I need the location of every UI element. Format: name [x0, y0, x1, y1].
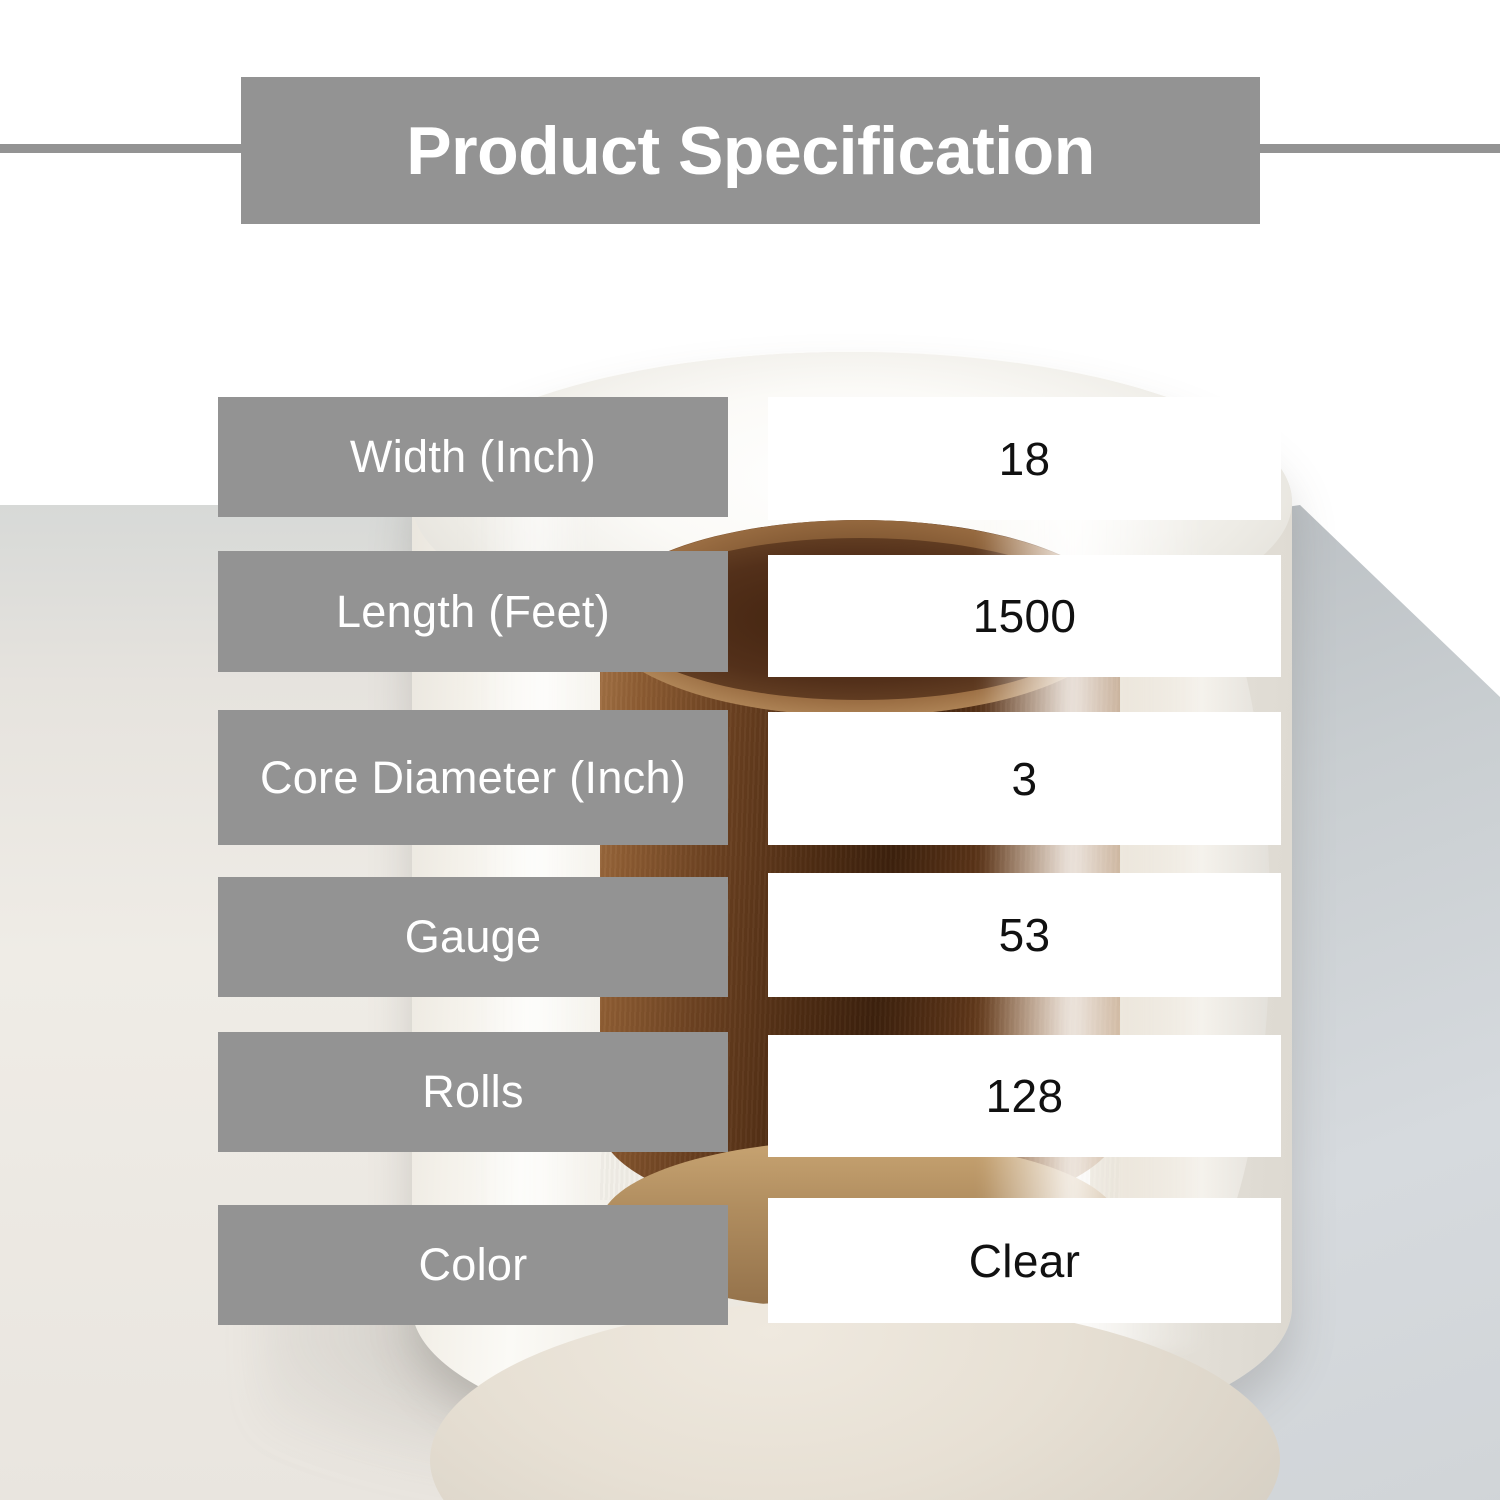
spec-label-text: Length (Feet) — [336, 588, 610, 635]
spec-label-cell: Rolls — [218, 1032, 728, 1152]
spec-value-cell: 128 — [768, 1035, 1281, 1157]
spec-label-cell: Gauge — [218, 877, 728, 997]
spec-value-text: 18 — [999, 432, 1051, 486]
spec-label-text: Width (Inch) — [350, 433, 596, 480]
spec-label-text: Gauge — [405, 913, 542, 960]
spec-label-cell: Core Diameter (Inch) — [218, 710, 728, 845]
specification-table: Width (Inch) 18 Length (Feet) 1500 Core … — [0, 0, 1500, 1500]
spec-value-text: Clear — [969, 1234, 1080, 1288]
spec-value-text: 53 — [999, 908, 1051, 962]
spec-value-text: 1500 — [973, 589, 1077, 643]
spec-value-text: 128 — [986, 1069, 1064, 1123]
spec-label-cell: Length (Feet) — [218, 551, 728, 672]
spec-label-cell: Width (Inch) — [218, 397, 728, 517]
spec-label-text: Core Diameter (Inch) — [260, 754, 686, 801]
spec-value-cell: 18 — [768, 397, 1281, 520]
spec-value-cell: 1500 — [768, 555, 1281, 677]
spec-value-cell: 53 — [768, 873, 1281, 997]
spec-value-cell: 3 — [768, 712, 1281, 845]
spec-label-cell: Color — [218, 1205, 728, 1325]
spec-value-cell: Clear — [768, 1198, 1281, 1323]
spec-label-text: Color — [418, 1241, 527, 1288]
spec-value-text: 3 — [1012, 752, 1038, 806]
product-specification-page: Product Specification Width (Inch) 18 Le… — [0, 0, 1500, 1500]
spec-label-text: Rolls — [422, 1068, 524, 1115]
